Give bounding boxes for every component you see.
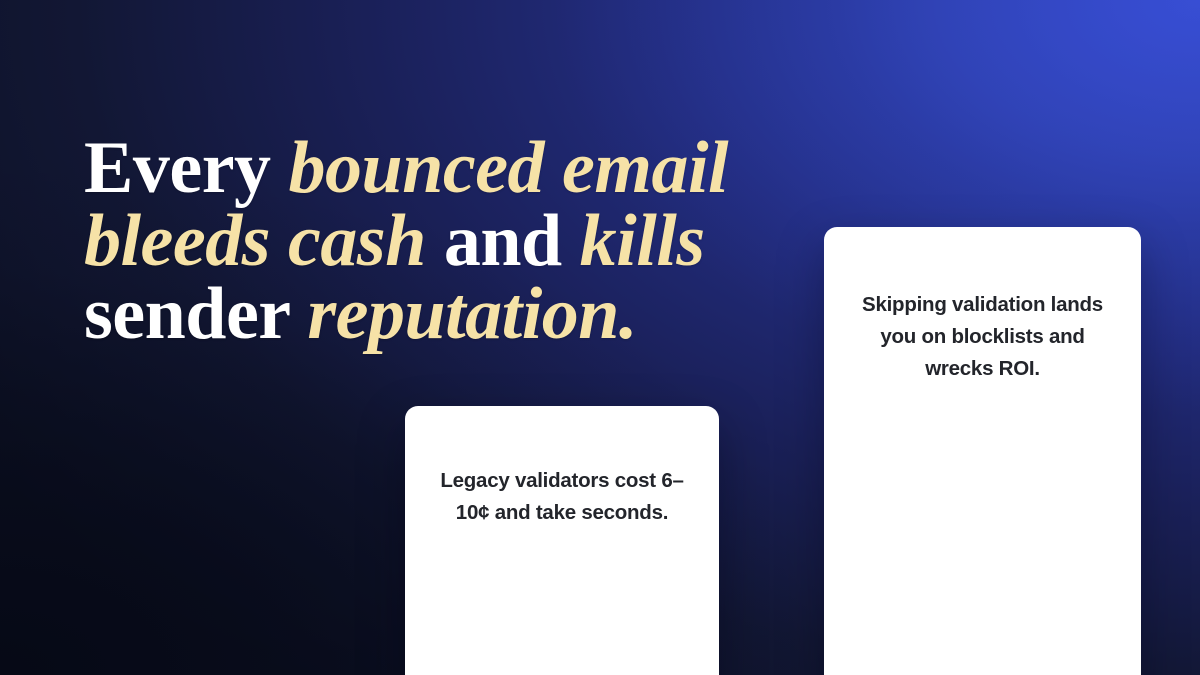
headline: Every bounced email bleeds cash and kill… xyxy=(84,132,804,351)
card-legacy-validators-text: Legacy validators cost 6–10¢ and take se… xyxy=(439,406,685,675)
headline-segment-emphasis: kills xyxy=(580,200,705,282)
headline-segment-emphasis: bleeds cash xyxy=(84,200,426,282)
card-skipping-validation: Skipping validation lands you on blockli… xyxy=(824,227,1141,675)
headline-segment-emphasis: reputation. xyxy=(307,273,637,355)
headline-line-3: sender reputation. xyxy=(84,278,804,351)
headline-segment: sender xyxy=(84,273,307,355)
headline-segment-emphasis: bounced email xyxy=(289,127,729,209)
headline-line-2: bleeds cash and kills xyxy=(84,205,804,278)
card-skipping-validation-text: Skipping validation lands you on blockli… xyxy=(857,227,1109,675)
headline-segment: Every xyxy=(84,127,289,209)
slide-canvas: Every bounced email bleeds cash and kill… xyxy=(0,0,1200,675)
card-legacy-validators: Legacy validators cost 6–10¢ and take se… xyxy=(405,406,719,675)
headline-line-1: Every bounced email xyxy=(84,132,804,205)
headline-segment: and xyxy=(426,200,580,282)
